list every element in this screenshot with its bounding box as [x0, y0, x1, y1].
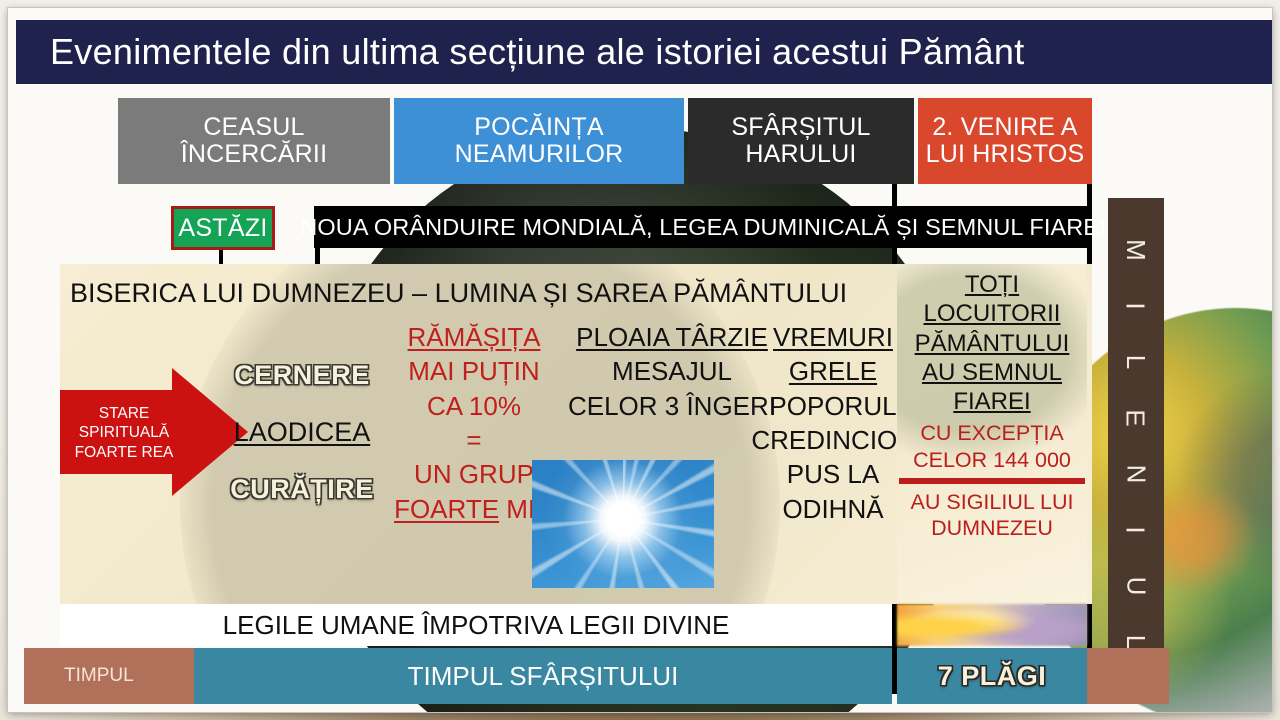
millennium-letter: I [1123, 302, 1149, 309]
era-label-line1: 2. VENIRE A [932, 114, 1077, 141]
mark-line-5: FIAREI [897, 387, 1087, 416]
mark-line-4: AU SEMNUL [897, 358, 1087, 387]
era-label-line2: ÎNCERCĂRII [181, 141, 327, 168]
remnant-equals: = [390, 423, 558, 457]
timeline-mid-label: TIMPUL SFÂRȘITULUI [408, 661, 679, 692]
exception-line-1: CU EXCEPȚIA [897, 420, 1087, 447]
mark-line-1: TOȚI [897, 270, 1087, 299]
millennium-letter: L [1123, 355, 1149, 369]
arrow-label-line2: SPIRITUALĂ [66, 423, 182, 442]
millennium-letter: I [1123, 526, 1149, 533]
church-state-curatire: CURĂȚIRE [218, 474, 386, 505]
millennium-letter: N [1123, 465, 1149, 484]
arrow-label-line1: STARE [66, 404, 182, 423]
exception-text: CU EXCEPȚIA CELOR 144 000 [897, 420, 1087, 473]
panel-heading: BISERICA LUI DUMNEZEU – LUMINA ȘI SAREA … [70, 278, 847, 309]
era-label-line1: SFÂRȘITUL [731, 114, 870, 141]
era-box-ceasul-incercarii[interactable]: CEASUL ÎNCERCĂRII [118, 98, 390, 184]
millennium-bar: M I L E N I U L [1108, 198, 1164, 694]
human-laws-bar: LEGILE UMANE ÎMPOTRIVA LEGII DIVINE [60, 604, 892, 646]
era-box-a-doua-venire[interactable]: 2. VENIRE A LUI HRISTOS [918, 98, 1092, 184]
timeline-left-label: TIMPUL [64, 665, 134, 687]
human-laws-label: LEGILE UMANE ÎMPOTRIVA LEGII DIVINE [223, 610, 730, 641]
red-divider-rule [899, 478, 1085, 484]
timeline-segment-time: TIMPUL [24, 648, 194, 704]
fire-sunset-image [897, 604, 1087, 646]
sun-burst-image [532, 460, 714, 588]
today-marker-label: ASTĂZI [178, 214, 267, 243]
arrow-label: STARE SPIRITUALĂ FOARTE REA [66, 404, 182, 462]
era-label-line2: HARULUI [745, 141, 856, 168]
millennium-letter: E [1123, 409, 1149, 426]
mark-line-2: LOCUITORII [897, 299, 1087, 328]
church-state-cernere: CERNERE [218, 360, 386, 391]
exception-line-2: CELOR 144 000 [897, 447, 1087, 474]
remnant-line5-underlined: FOARTE [394, 494, 499, 524]
mark-of-beast-text: TOȚI LOCUITORII PĂMÂNTULUI AU SEMNUL FIA… [897, 264, 1087, 416]
page-title: Evenimentele din ultima secțiune ale ist… [16, 31, 1025, 73]
era-label-line1: POCĂINȚA [474, 114, 603, 141]
new-world-order-bar: NOUA ORÂNDUIRE MONDIALĂ, LEGEA DUMINICAL… [314, 206, 1092, 248]
millennium-letter: U [1123, 577, 1149, 596]
era-box-pocainta-neamurilor[interactable]: POCĂINȚA NEAMURILOR [394, 98, 684, 184]
church-state-laodicea: LAODICEA [218, 417, 386, 448]
seal-line-1: AU SIGILIUL LUI [897, 489, 1087, 516]
era-label-line2: NEAMURILOR [455, 141, 624, 168]
seal-of-god-text: AU SIGILIUL LUI DUMNEZEU [897, 489, 1087, 542]
era-label-line1: CEASUL [203, 114, 304, 141]
timeline-right-label: 7 PLĂGI [938, 661, 1047, 692]
slide-board: Evenimentele din ultima secțiune ale ist… [8, 8, 1272, 712]
remnant-line1: MAI PUȚIN [390, 354, 558, 388]
today-marker[interactable]: ASTĂZI [171, 206, 275, 250]
slide-canvas: Evenimentele din ultima secțiune ale ist… [0, 0, 1280, 720]
mark-line-3: PĂMÂNTULUI [897, 329, 1087, 358]
new-world-order-label: NOUA ORÂNDUIRE MONDIALĂ, LEGEA DUMINICAL… [300, 214, 1105, 241]
era-label-line2: LUI HRISTOS [926, 141, 1085, 168]
remnant-line2: CA 10% [390, 389, 558, 423]
mark-of-beast-panel: TOȚI LOCUITORII PĂMÂNTULUI AU SEMNUL FIA… [897, 264, 1087, 604]
seal-line-2: DUMNEZEU [897, 515, 1087, 542]
arrow-label-line3: FOARTE REA [66, 443, 182, 462]
timeline-segment-seven-plagues: 7 PLĂGI [897, 648, 1087, 704]
millennium-letter: M [1123, 239, 1149, 261]
remnant-heading: RĂMĂȘIȚA [390, 320, 558, 354]
timeline-segment-end-times: TIMPUL SFÂRȘITULUI [194, 648, 892, 704]
timeline-segment-millennium [1087, 648, 1169, 704]
column-church-state: CERNERE LAODICEA CURĂȚIRE [218, 360, 386, 531]
title-banner: Evenimentele din ultima secțiune ale ist… [16, 20, 1272, 84]
era-box-sfarsitul-harului[interactable]: SFÂRȘITUL HARULUI [688, 98, 914, 184]
